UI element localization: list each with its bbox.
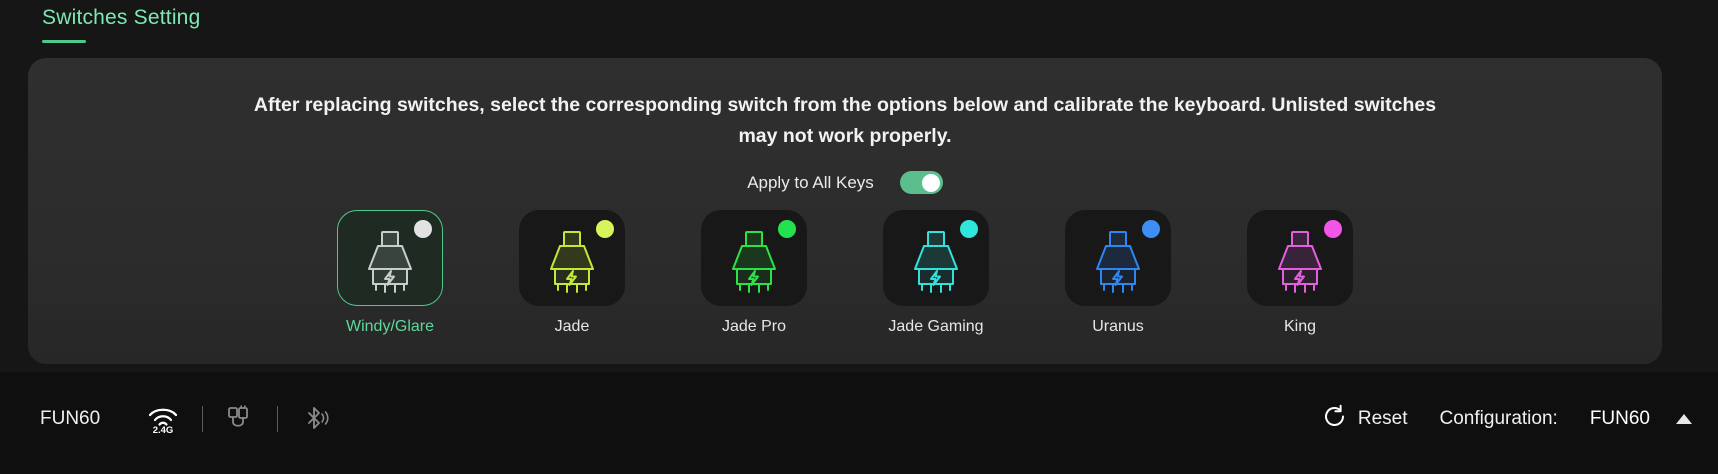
switch-option-label: Jade Pro	[722, 318, 786, 336]
switch-color-dot	[960, 220, 978, 238]
status-bar: FUN60 2.4G	[0, 372, 1718, 474]
switch-color-dot	[1324, 220, 1342, 238]
configuration-value[interactable]: FUN60	[1590, 408, 1650, 430]
configuration-label: Configuration:	[1440, 408, 1558, 430]
switch-option-label: Jade Gaming	[888, 318, 983, 336]
apply-to-all-keys-label: Apply to All Keys	[747, 173, 874, 193]
switch-option-label: Windy/Glare	[346, 318, 434, 336]
switches-setting-screen: Switches Setting After replacing switche…	[0, 0, 1718, 474]
connected-device-name: FUN60	[40, 408, 100, 430]
refresh-icon	[1322, 404, 1347, 434]
title-underline-accent	[42, 40, 86, 43]
switches-panel: After replacing switches, select the cor…	[28, 58, 1662, 364]
switch-option-card[interactable]	[519, 210, 625, 306]
switch-option-card[interactable]	[1247, 210, 1353, 306]
switch-option-jade-gaming[interactable]: Jade Gaming	[882, 210, 990, 336]
switch-color-dot	[778, 220, 796, 238]
switch-option-uranus[interactable]: Uranus	[1064, 210, 1172, 336]
switch-option-card[interactable]	[1065, 210, 1171, 306]
wireless-24g-label: 2.4G	[153, 425, 174, 434]
usb-cable-icon[interactable]	[225, 404, 255, 434]
page-header: Switches Setting	[42, 4, 200, 48]
wireless-24g-icon[interactable]: 2.4G	[146, 404, 180, 434]
status-divider-1	[202, 406, 203, 432]
switch-option-jade-pro[interactable]: Jade Pro	[700, 210, 808, 336]
reset-label: Reset	[1358, 408, 1408, 430]
switch-option-card[interactable]	[701, 210, 807, 306]
chevron-up-icon[interactable]	[1676, 414, 1692, 424]
reset-button[interactable]: Reset	[1322, 404, 1408, 434]
apply-to-all-keys-row: Apply to All Keys	[28, 171, 1662, 194]
apply-to-all-keys-toggle[interactable]	[900, 171, 943, 194]
switch-option-windy-glare[interactable]: Windy/Glare	[336, 210, 444, 336]
panel-description: After replacing switches, select the cor…	[235, 90, 1455, 152]
switch-option-label: King	[1284, 318, 1316, 336]
bluetooth-icon[interactable]	[300, 404, 330, 434]
switch-option-king[interactable]: King	[1246, 210, 1354, 336]
status-divider-2	[277, 406, 278, 432]
toggle-knob	[922, 174, 940, 192]
switch-color-dot	[414, 220, 432, 238]
switch-option-card[interactable]	[883, 210, 989, 306]
switch-option-card[interactable]	[337, 210, 443, 306]
switch-color-dot	[1142, 220, 1160, 238]
switch-options-list: Windy/GlareJadeJade ProJade GamingUranus…	[28, 210, 1662, 336]
page-title: Switches Setting	[42, 4, 200, 32]
status-bar-right: Reset Configuration: FUN60	[1322, 404, 1692, 434]
switch-option-label: Uranus	[1092, 318, 1144, 336]
switch-color-dot	[596, 220, 614, 238]
switch-option-jade[interactable]: Jade	[518, 210, 626, 336]
switch-option-label: Jade	[555, 318, 590, 336]
status-bar-left: FUN60 2.4G	[40, 404, 330, 434]
